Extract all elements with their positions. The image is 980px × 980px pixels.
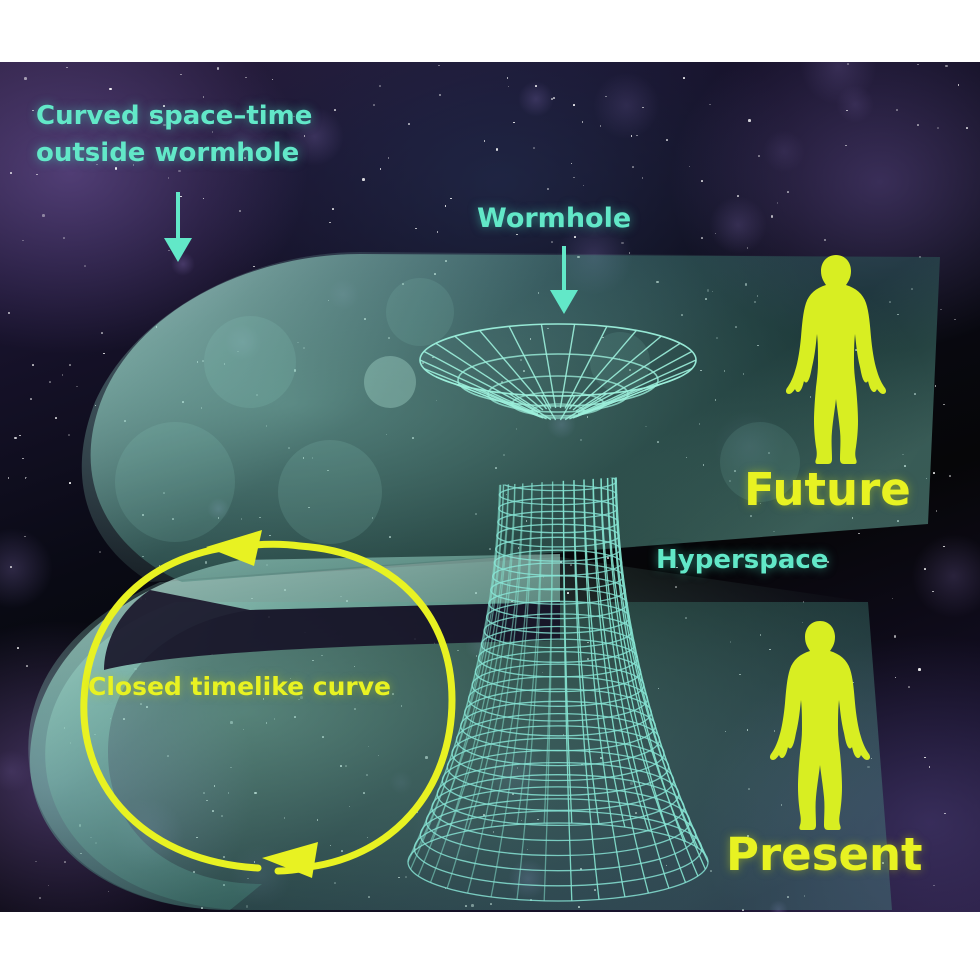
label-present: Present [726,828,923,881]
label-wormhole: Wormhole [477,203,631,234]
human-silhouette-future [781,252,891,464]
label-future: Future [744,463,911,516]
label-curved-spacetime: Curved space–time outside wormhole [36,98,312,172]
wormhole-diagram-figure: Curved space–time outside wormhole Wormh… [0,0,980,980]
label-hyperspace: Hyperspace [656,545,828,575]
human-silhouette-present [765,618,875,830]
label-closed-timelike-curve: Closed timelike curve [88,672,391,701]
